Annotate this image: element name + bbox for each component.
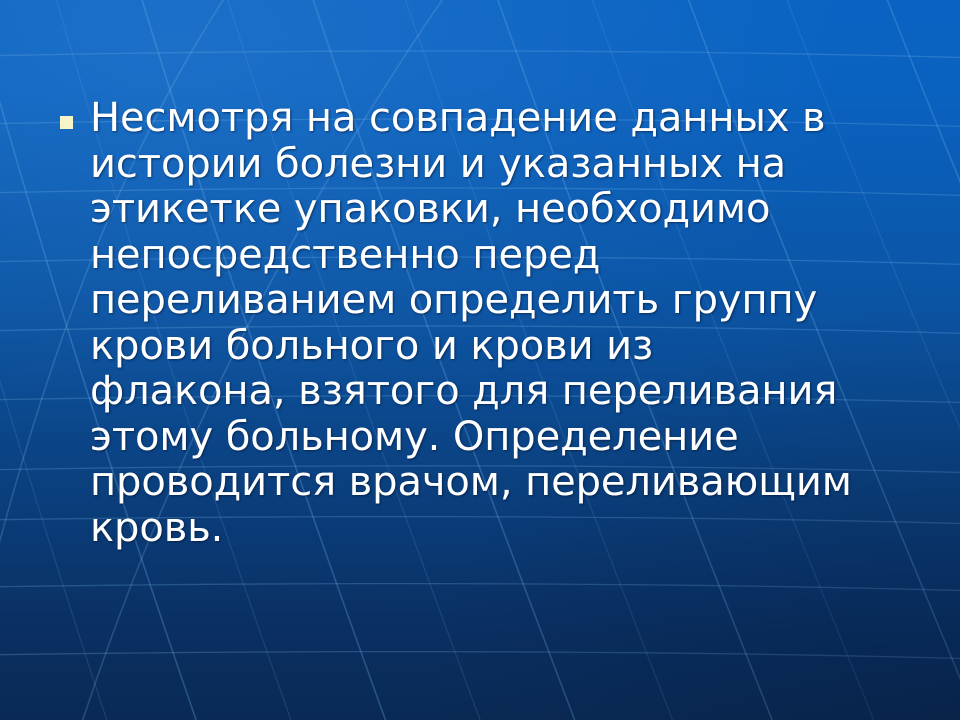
square-bullet-icon bbox=[60, 116, 73, 129]
bullet-list-item: Несмотря на совпадение данных в истории … bbox=[60, 96, 900, 551]
slide-canvas: Несмотря на совпадение данных в истории … bbox=[0, 0, 960, 720]
slide-body-placeholder: Несмотря на совпадение данных в истории … bbox=[60, 96, 900, 551]
bullet-paragraph-text: Несмотря на совпадение данных в истории … bbox=[90, 96, 900, 551]
